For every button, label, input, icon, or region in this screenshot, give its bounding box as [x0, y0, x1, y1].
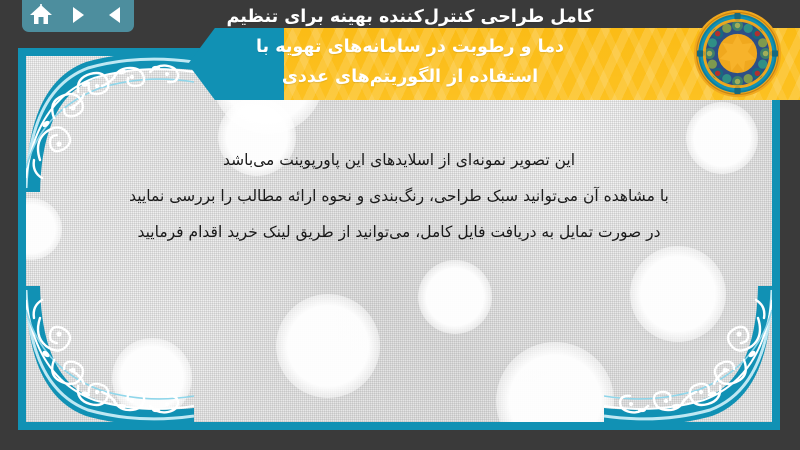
triangle-right-icon [69, 5, 87, 25]
previous-slide-button[interactable] [101, 2, 129, 28]
body-line-3: در صورت تمایل به دریافت فایل کامل، می‌تو… [26, 214, 772, 250]
home-button[interactable] [27, 2, 55, 28]
slide-body-text: این تصویر نمونه‌ای از اسلایدهای این پاور… [26, 142, 772, 250]
triangle-left-icon [106, 5, 124, 25]
title-line-3: استفاده از الگوریتم‌های عددی [150, 62, 670, 92]
slide-navigation-bar [22, 0, 134, 32]
title-line-2: دما و رطوبت در سامانه‌های تهویه با [150, 32, 670, 62]
ornamental-medallion-icon [693, 9, 782, 98]
body-line-1: این تصویر نمونه‌ای از اسلایدهای این پاور… [26, 142, 772, 178]
next-slide-button[interactable] [64, 2, 92, 28]
page-title: کامل طراحی کنترل‌کننده بهینه برای تنظیم … [150, 2, 670, 92]
bokeh-circle [276, 294, 380, 398]
bokeh-circle [496, 342, 614, 422]
content-panel-inner: این تصویر نمونه‌ای از اسلایدهای این پاور… [26, 56, 772, 422]
bokeh-circle [418, 260, 492, 334]
bokeh-circle [630, 246, 726, 342]
home-icon [29, 4, 53, 26]
filigree-corner-bottom-right-icon [604, 286, 772, 422]
content-panel: این تصویر نمونه‌ای از اسلایدهای این پاور… [18, 48, 780, 430]
body-line-2: با مشاهده آن می‌توانید سبک طراحی، رنگ‌بن… [26, 178, 772, 214]
title-line-1: کامل طراحی کنترل‌کننده بهینه برای تنظیم [150, 2, 670, 32]
presentation-slide: کامل طراحی کنترل‌کننده بهینه برای تنظیم … [0, 0, 800, 450]
filigree-corner-bottom-left-icon [26, 286, 194, 422]
bokeh-circle [112, 338, 192, 418]
